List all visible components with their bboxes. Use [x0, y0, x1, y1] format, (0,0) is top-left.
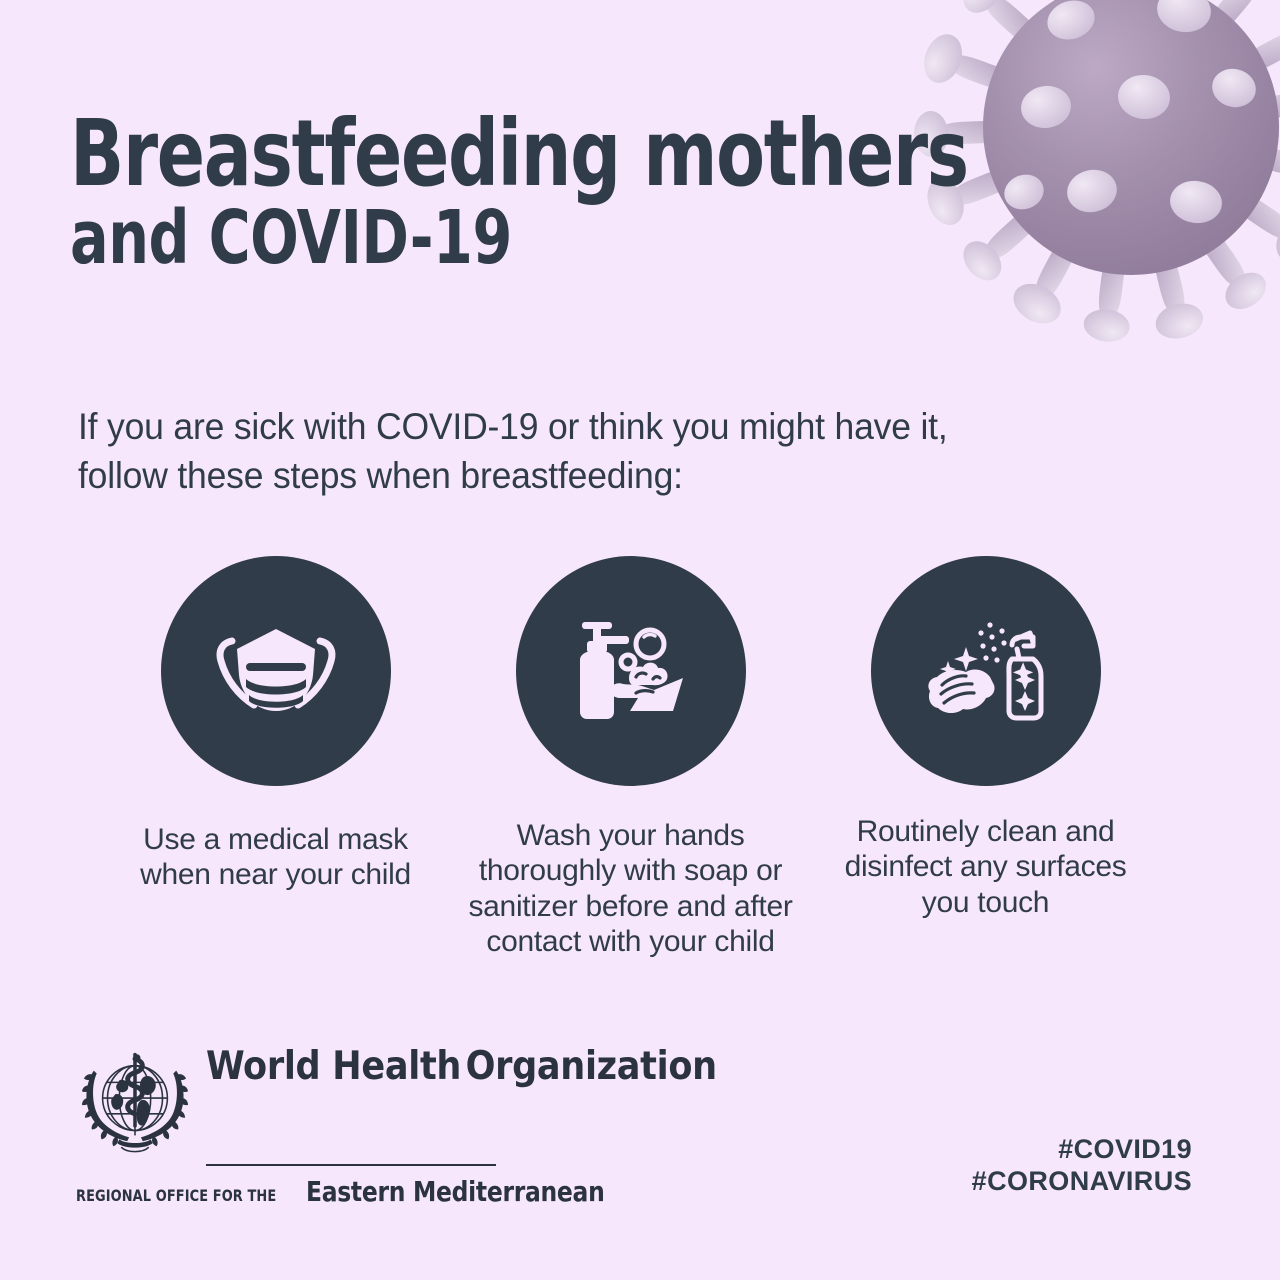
hashtag-covid19: #COVID19 [972, 1134, 1192, 1166]
step-icon-circle [516, 556, 746, 786]
step-item: Routinely clean and disinfect any surfac… [808, 556, 1163, 960]
step-caption: Routinely clean and disinfect any surfac… [821, 814, 1151, 920]
who-regional-name: Eastern Mediterranean [306, 1175, 604, 1208]
who-logo: World Health Organization REGIONAL OFFIC… [76, 1047, 717, 1208]
step-item: Wash your hands thoroughly with soap or … [453, 556, 808, 960]
hashtags: #COVID19 #CORONAVIRUS [972, 1134, 1192, 1198]
page-title: Breastfeeding mothers and COVID-19 [70, 112, 1114, 275]
step-icon-circle [871, 556, 1101, 786]
intro-line-1: If you are sick with COVID-19 or think y… [78, 402, 1124, 451]
step-caption: Use a medical mask when near your child [111, 822, 441, 893]
medical-mask-icon [212, 619, 340, 723]
poster-canvas: Breastfeeding mothers and COVID-19 If yo… [0, 0, 1280, 1280]
who-emblem-icon [76, 1049, 194, 1157]
intro-line-2: follow these steps when breastfeeding: [78, 451, 1124, 500]
step-icon-circle [161, 556, 391, 786]
spray-bottle-cleaning-icon [920, 615, 1052, 727]
title-line-2: and COVID-19 [70, 201, 968, 275]
handwash-soap-dispenser-icon [568, 616, 694, 726]
steps-row: Use a medical mask when near your child [0, 556, 1280, 960]
step-item: Use a medical mask when near your child [98, 556, 453, 960]
who-name-line-1: World Health [206, 1044, 461, 1089]
step-caption: Wash your hands thoroughly with soap or … [466, 818, 796, 960]
hashtag-coronavirus: #CORONAVIRUS [972, 1166, 1192, 1198]
who-name-line-2: Organization [466, 1044, 717, 1089]
who-divider [206, 1164, 496, 1166]
who-regional-prefix: REGIONAL OFFICE FOR THE [76, 1186, 276, 1205]
intro-paragraph: If you are sick with COVID-19 or think y… [78, 402, 1168, 500]
title-line-1: Breastfeeding mothers [70, 112, 968, 197]
